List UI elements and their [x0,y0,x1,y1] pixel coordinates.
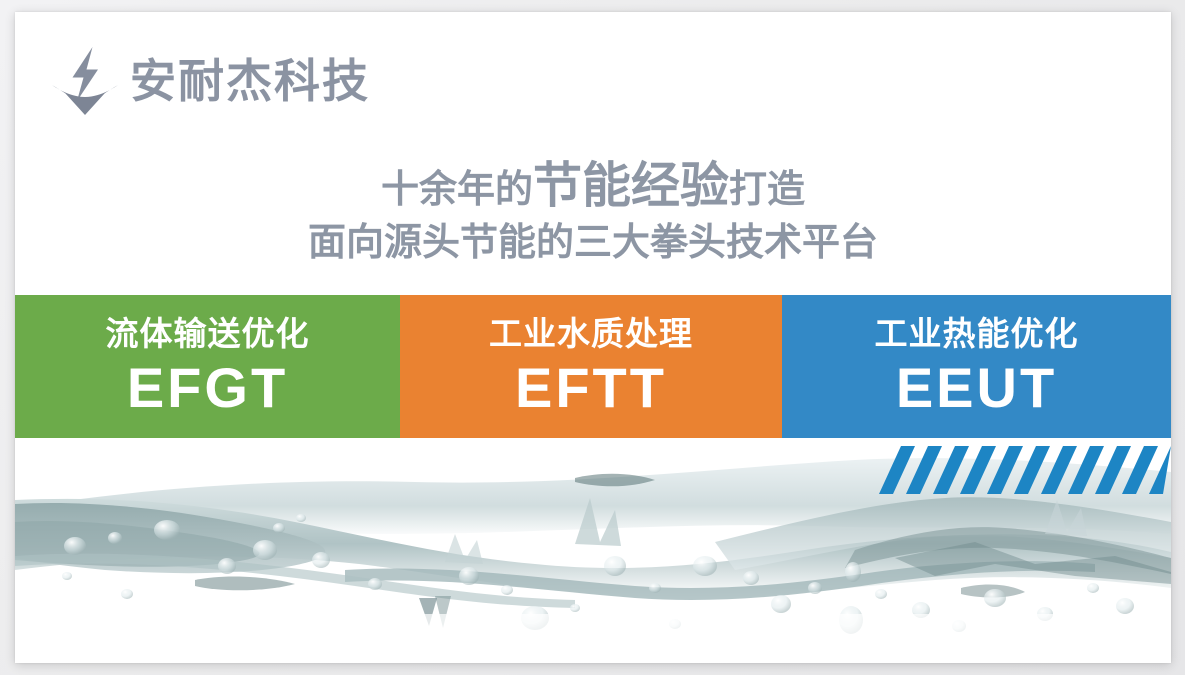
panel-code: EFTT [515,360,667,416]
headline-line-1: 十余年的节能经验打造 [15,160,1171,212]
panel-water-treatment[interactable]: 工业水质处理 EFTT [400,295,782,438]
headline-emphasis: 节能经验 [533,157,729,214]
panel-title: 工业水质处理 [489,317,693,350]
water-splash-graphic [15,438,1171,663]
panel-thermal-energy[interactable]: 工业热能优化 EEUT [782,295,1171,438]
presentation-slide: 安耐杰科技 十余年的节能经验打造 面向源头节能的三大拳头技术平台 流体输送优化 … [15,12,1171,663]
panel-title: 工业热能优化 [875,317,1079,350]
panel-fluid-transport[interactable]: 流体输送优化 EFGT [15,295,400,438]
water-splash-photo [15,438,1171,663]
logo-wordmark: 安耐杰科技 [130,58,370,104]
technology-platform-panels: 流体输送优化 EFGT 工业水质处理 EFTT 工业热能优化 EEUT [15,295,1171,438]
company-logo: 安耐杰科技 [48,40,370,122]
panel-title: 流体输送优化 [106,317,310,350]
headline-prefix: 十余年的 [381,167,533,211]
slide-stage: 安耐杰科技 十余年的节能经验打造 面向源头节能的三大拳头技术平台 流体输送优化 … [0,0,1185,675]
lightning-bolt-with-downward-swoosh-icon [48,45,122,117]
panel-code: EEUT [896,360,1057,416]
headline-line-2: 面向源头节能的三大拳头技术平台 [15,222,1171,262]
panel-code: EFGT [127,360,288,416]
headline-suffix: 打造 [729,167,805,211]
headline-block: 十余年的节能经验打造 面向源头节能的三大拳头技术平台 [15,160,1171,262]
